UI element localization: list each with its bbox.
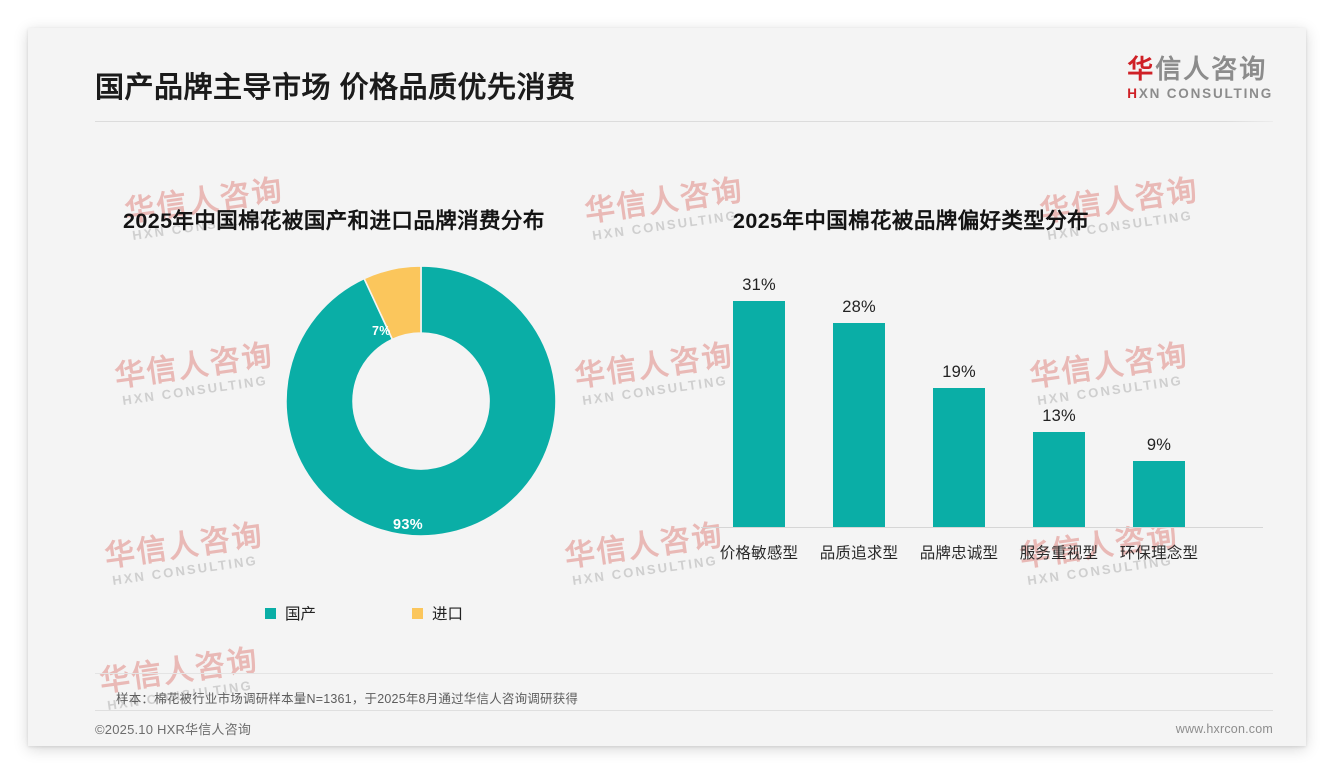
bar-value-label: 28% — [842, 298, 876, 317]
brand-logo-cn-accent: 华 — [1127, 54, 1155, 84]
donut-chart-area: 93% 7% — [95, 271, 655, 571]
bar-chart-title: 2025年中国棉花被品牌偏好类型分布 — [693, 204, 1273, 235]
bar-column[interactable]: 31% — [709, 265, 809, 527]
bar-rect[interactable] — [1133, 461, 1185, 527]
donut-label-imported: 7% — [372, 324, 391, 338]
bar-chart-category-labels: 价格敏感型 品质追求型 品牌忠诚型 服务重视型 环保理念型 — [709, 541, 1257, 563]
legend-item-imported[interactable]: 进口 — [412, 602, 463, 624]
footnote-text: 样本：棉花被行业市场调研样本量N=1361，于2025年8月通过华信人咨询调研获… — [116, 688, 578, 707]
bar-column[interactable]: 13% — [1009, 265, 1109, 527]
footnote-divider-top — [95, 673, 1273, 674]
brand-logo-cn: 华信人咨询 — [1127, 55, 1273, 85]
website-url[interactable]: www.hxrcon.com — [1176, 722, 1273, 736]
bar-rect[interactable] — [933, 388, 985, 527]
slide-footer: ©2025.10 HXR华信人咨询 www.hxrcon.com — [95, 711, 1273, 746]
bar-chart-axis-line — [701, 527, 1263, 528]
bar-chart-area: 31% 28% 19% 13% — [693, 265, 1273, 585]
bar-column[interactable]: 28% — [809, 265, 909, 527]
brand-logo-en: HXN CONSULTING — [1127, 86, 1273, 101]
bar-value-label: 31% — [742, 276, 776, 295]
bar-category-label: 品牌忠诚型 — [909, 541, 1009, 563]
slide-header: 国产品牌主导市场 价格品质优先消费 华信人咨询 HXN CONSULTING — [28, 28, 1306, 122]
brand-logo-en-accent: H — [1127, 86, 1139, 101]
bar-value-label: 9% — [1147, 436, 1171, 455]
bar-chart-panel: 2025年中国棉花被品牌偏好类型分布 31% 28% 19% — [693, 204, 1273, 634]
slide-canvas: 华信人咨询 HXN CONSULTING 华信人咨询 HXN CONSULTIN… — [28, 28, 1306, 746]
donut-chart-panel: 2025年中国棉花被国产和进口品牌消费分布 93% 7% — [95, 204, 655, 664]
brand-logo-cn-rest: 信人咨询 — [1155, 54, 1267, 84]
bar-rect[interactable] — [833, 323, 885, 527]
bar-column[interactable]: 19% — [909, 265, 1009, 527]
brand-logo: 华信人咨询 HXN CONSULTING — [1127, 55, 1273, 101]
bar-category-label: 服务重视型 — [1009, 541, 1109, 563]
header-divider — [95, 121, 1273, 122]
bar-category-label: 品质追求型 — [809, 541, 909, 563]
bar-rect[interactable] — [1033, 432, 1085, 527]
bar-value-label: 13% — [1042, 407, 1076, 426]
legend-label-domestic: 国产 — [285, 602, 316, 624]
square-swatch-icon — [265, 608, 276, 619]
bar-column[interactable]: 9% — [1109, 265, 1209, 527]
bar-category-label: 价格敏感型 — [709, 541, 809, 563]
bar-value-label: 19% — [942, 363, 976, 382]
bar-category-label: 环保理念型 — [1109, 541, 1209, 563]
legend-label-imported: 进口 — [432, 602, 463, 624]
square-swatch-icon — [412, 608, 423, 619]
bar-chart-plot: 31% 28% 19% 13% — [709, 265, 1257, 527]
bar-rect[interactable] — [733, 301, 785, 527]
donut-legend: 国产 进口 — [265, 602, 463, 624]
donut-chart-graphic — [285, 265, 557, 537]
brand-logo-en-rest: XN CONSULTING — [1139, 86, 1273, 101]
legend-item-domestic[interactable]: 国产 — [265, 602, 316, 624]
screenshot-stage: 华信人咨询 HXN CONSULTING 华信人咨询 HXN CONSULTIN… — [0, 0, 1340, 780]
donut-label-domestic: 93% — [393, 517, 423, 533]
copyright-text: ©2025.10 HXR华信人咨询 — [95, 719, 251, 738]
donut-chart-title: 2025年中国棉花被国产和进口品牌消费分布 — [95, 204, 655, 235]
page-title: 国产品牌主导市场 价格品质优先消费 — [95, 64, 576, 106]
